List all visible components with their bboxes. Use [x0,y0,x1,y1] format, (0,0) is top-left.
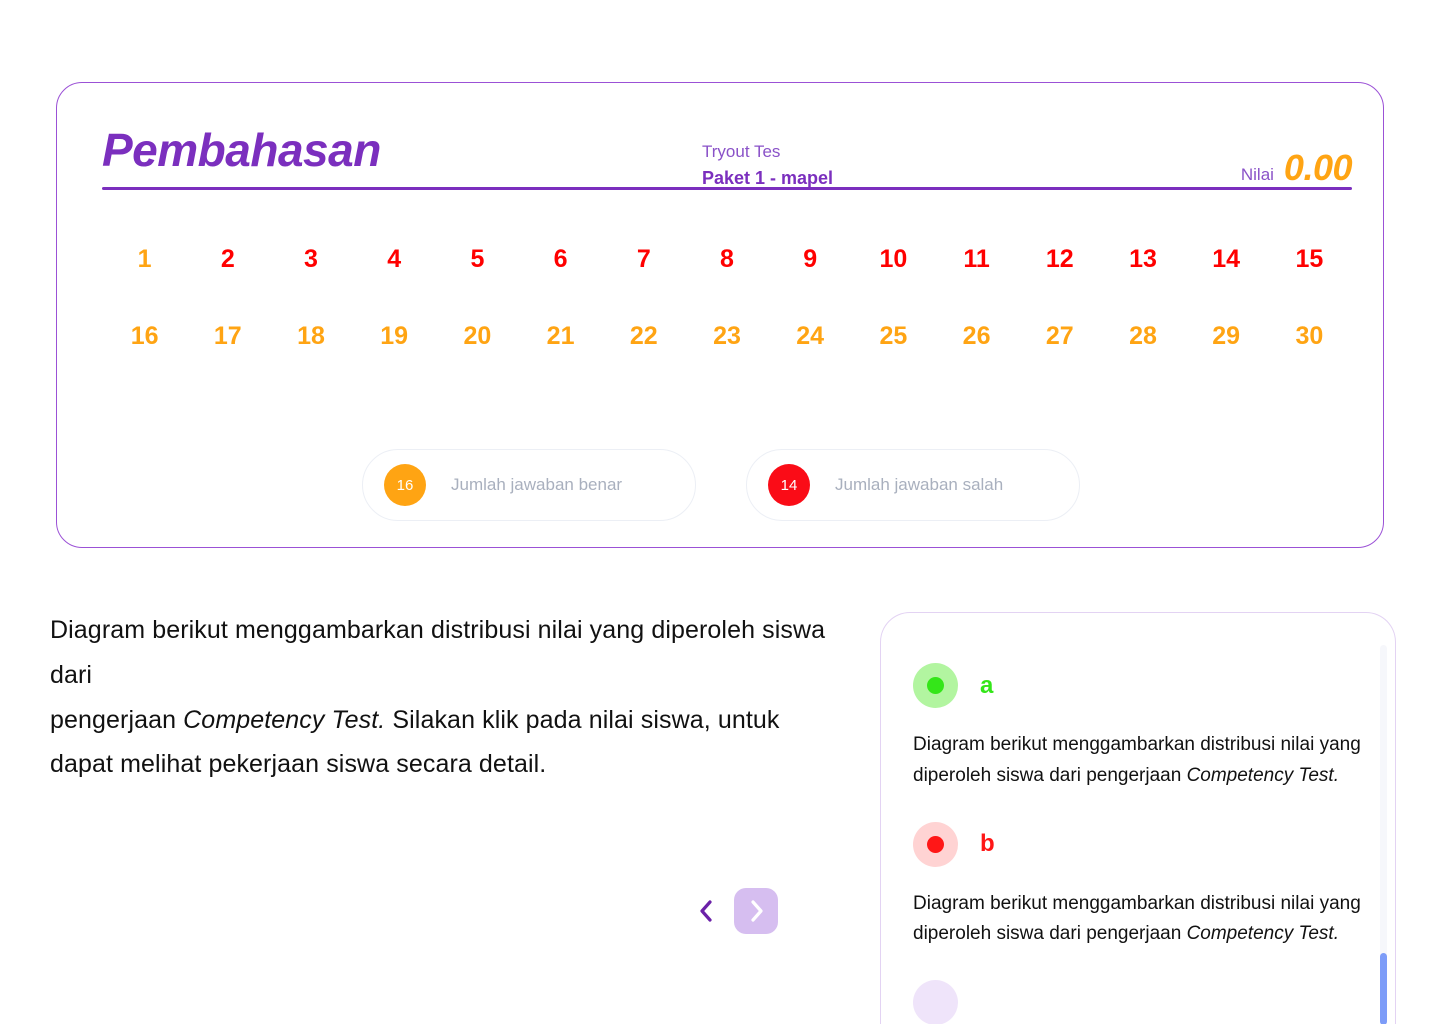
question-number-16[interactable]: 16 [103,324,186,349]
score-value: 0.00 [1284,147,1352,189]
stat-pill-correct: 16 Jumlah jawaban benar [362,449,696,521]
question-number-3[interactable]: 3 [269,247,352,272]
radio-dot-c [927,994,944,1011]
radio-dot-b [927,836,944,853]
question-number-10[interactable]: 10 [852,247,935,272]
answer-option-a-text-italic: Competency Test. [1187,765,1339,786]
chevron-left-icon [699,900,712,922]
question-number-11[interactable]: 11 [935,247,1018,272]
wrong-count-label: Jumlah jawaban salah [835,475,1003,495]
wrong-count-badge: 14 [768,464,810,506]
tryout-info: Tryout Tes Paket 1 - mapel [702,139,833,192]
question-number-15[interactable]: 15 [1268,247,1351,272]
question-text: Diagram berikut menggambarkan distribusi… [50,608,840,787]
question-part-1: Diagram berikut menggambarkan distribusi… [50,616,825,689]
options-scrollbar-thumb[interactable] [1380,953,1387,1024]
answer-option-c-head [913,980,1363,1024]
correct-count-label: Jumlah jawaban benar [451,475,622,495]
question-number-9[interactable]: 9 [769,247,852,272]
answer-options-panel: a Diagram berikut menggambarkan distribu… [880,612,1396,1024]
stats-row: 16 Jumlah jawaban benar 14 Jumlah jawaba… [57,449,1385,521]
question-number-6[interactable]: 6 [519,247,602,272]
question-part-2: pengerjaan [50,706,183,734]
answer-option-b-text: Diagram berikut menggambarkan distribusi… [913,889,1363,951]
question-number-2[interactable]: 2 [186,247,269,272]
score-label: Nilai [1241,165,1274,185]
question-number-17[interactable]: 17 [186,324,269,349]
radio-button-b[interactable] [913,822,958,867]
stat-pill-wrong: 14 Jumlah jawaban salah [746,449,1080,521]
radio-button-c[interactable] [913,980,958,1024]
question-number-26[interactable]: 26 [935,324,1018,349]
question-number-7[interactable]: 7 [602,247,685,272]
question-block: Diagram berikut menggambarkan distribusi… [50,608,840,787]
answer-option-c[interactable] [913,980,1363,1024]
question-number-19[interactable]: 19 [353,324,436,349]
question-number-8[interactable]: 8 [685,247,768,272]
card-header: Pembahasan Tryout Tes Paket 1 - mapel Ni… [102,105,1352,209]
prev-question-button[interactable] [690,888,720,934]
answer-option-a-head: a [913,663,1363,708]
question-number-13[interactable]: 13 [1101,247,1184,272]
question-number-30[interactable]: 30 [1268,324,1351,349]
radio-button-a[interactable] [913,663,958,708]
question-number-4[interactable]: 4 [353,247,436,272]
radio-dot-a [927,677,944,694]
answer-option-b[interactable]: b Diagram berikut menggambarkan distribu… [913,822,1363,951]
answer-option-a-letter: a [980,674,993,698]
question-number-18[interactable]: 18 [269,324,352,349]
question-number-20[interactable]: 20 [436,324,519,349]
page-title: Pembahasan [102,123,381,177]
question-number-27[interactable]: 27 [1018,324,1101,349]
question-number-5[interactable]: 5 [436,247,519,272]
question-number-29[interactable]: 29 [1185,324,1268,349]
answer-options-list: a Diagram berikut menggambarkan distribu… [881,613,1396,1024]
question-italic-term: Competency Test. [183,706,385,734]
question-number-grid: 1 2 3 4 5 6 7 8 9 10 11 12 13 14 15 16 1… [103,247,1351,349]
question-number-25[interactable]: 25 [852,324,935,349]
question-number-28[interactable]: 28 [1101,324,1184,349]
answer-option-a[interactable]: a Diagram berikut menggambarkan distribu… [913,663,1363,792]
page-root: Pembahasan Tryout Tes Paket 1 - mapel Ni… [0,0,1440,1024]
score-display: Nilai 0.00 [1241,147,1352,189]
pager [690,888,778,934]
answer-option-b-head: b [913,822,1363,867]
tryout-label: Tryout Tes [702,139,833,165]
answer-option-a-text: Diagram berikut menggambarkan distribusi… [913,730,1363,792]
question-number-22[interactable]: 22 [602,324,685,349]
header-divider [102,187,1352,190]
answer-option-b-text-italic: Competency Test. [1187,923,1339,944]
question-number-23[interactable]: 23 [685,324,768,349]
summary-card: Pembahasan Tryout Tes Paket 1 - mapel Ni… [56,82,1384,548]
question-number-12[interactable]: 12 [1018,247,1101,272]
correct-count-badge: 16 [384,464,426,506]
question-number-24[interactable]: 24 [769,324,852,349]
question-number-14[interactable]: 14 [1185,247,1268,272]
answer-option-b-letter: b [980,832,995,856]
question-number-21[interactable]: 21 [519,324,602,349]
question-number-1[interactable]: 1 [103,247,186,272]
next-question-button[interactable] [734,888,778,934]
chevron-right-icon [750,900,763,922]
